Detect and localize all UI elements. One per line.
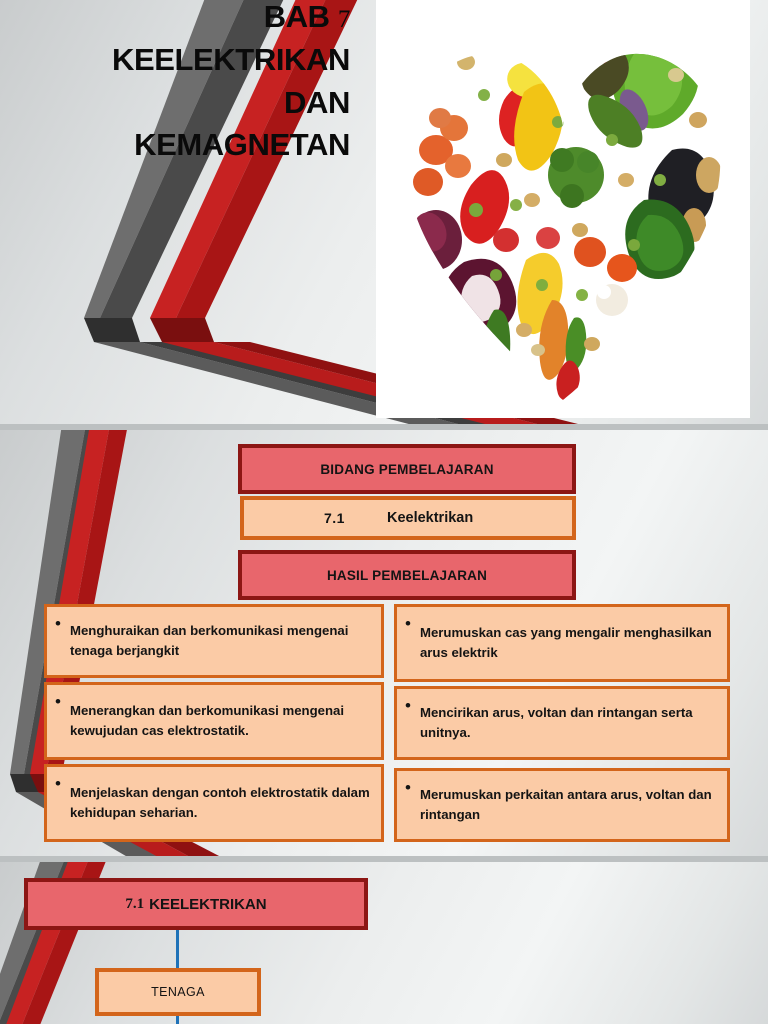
outcome-box-left-1: • Menghuraikan dan berkomunikasi mengena… [44, 604, 384, 678]
outcome-text: Menjelaskan dengan contoh elektrostatik … [70, 783, 373, 822]
outcome-box-right-3: • Merumuskan perkaitan antara arus, volt… [394, 768, 730, 842]
mindmap-node-label: TENAGA [151, 985, 205, 999]
chapter-number: 7 [338, 6, 350, 33]
outcome-text: Mencirikan arus, voltan dan rintangan se… [420, 703, 719, 742]
vegetables-heart-photo [376, 0, 750, 418]
title-line-bab: BAB 7 [20, 0, 350, 39]
heading-bidang-label: BIDANG PEMBELAJARAN [320, 462, 493, 477]
slide-2-learning-outcomes: BIDANG PEMBELAJARAN 7.1 Keelektrikan HAS… [0, 430, 768, 862]
bullet-icon: • [55, 611, 61, 632]
heading-hasil-label: HASIL PEMBELAJARAN [327, 568, 487, 583]
slide-3-mindmap: 7.1 KEELEKTRIKAN TENAGA [0, 862, 768, 1024]
bullet-icon: • [405, 693, 411, 714]
subtopic-row-7-1: 7.1 Keelektrikan [240, 496, 576, 540]
title-line-kemagnetan: KEMAGNETAN [20, 124, 350, 167]
bullet-icon: • [55, 771, 61, 792]
outcome-text: Menerangkan dan berkomunikasi mengenai k… [70, 701, 373, 740]
bullet-icon: • [405, 611, 411, 632]
section-number: 7.1 [125, 896, 144, 913]
outcome-box-left-3: • Menjelaskan dengan contoh elektrostati… [44, 764, 384, 842]
outcome-text: Merumuskan perkaitan antara arus, voltan… [420, 785, 719, 824]
bullet-icon: • [55, 689, 61, 710]
slide-1-title: BAB 7 KEELEKTRIKAN DAN KEMAGNETAN [0, 0, 768, 430]
title-line-keelektrikan: KEELEKTRIKAN [20, 39, 350, 82]
subtopic-number: 7.1 [324, 510, 345, 526]
title-line-dan: DAN [20, 82, 350, 125]
heading-bidang-pembelajaran: BIDANG PEMBELAJARAN [238, 444, 576, 494]
section-title: KEELEKTRIKAN [149, 896, 267, 913]
heading-hasil-pembelajaran: HASIL PEMBELAJARAN [238, 550, 576, 600]
outcome-box-left-2: • Menerangkan dan berkomunikasi mengenai… [44, 682, 384, 760]
outcome-text: Merumuskan cas yang mengalir menghasilka… [420, 623, 719, 662]
outcome-box-right-2: • Mencirikan arus, voltan dan rintangan … [394, 686, 730, 760]
slide-deck: BAB 7 KEELEKTRIKAN DAN KEMAGNETAN [0, 0, 768, 1024]
slide-1-title-block: BAB 7 KEELEKTRIKAN DAN KEMAGNETAN [20, 0, 350, 167]
vegetables-heart-illustration-icon [376, 0, 750, 418]
section-header-7-1-keelektrikan: 7.1 KEELEKTRIKAN [24, 878, 368, 930]
mindmap-node-tenaga: TENAGA [95, 968, 261, 1016]
subtopic-name: Keelektrikan [387, 510, 473, 526]
outcome-box-right-1: • Merumuskan cas yang mengalir menghasil… [394, 604, 730, 682]
outcome-text: Menghuraikan dan berkomunikasi mengenai … [70, 621, 373, 660]
bullet-icon: • [405, 775, 411, 796]
